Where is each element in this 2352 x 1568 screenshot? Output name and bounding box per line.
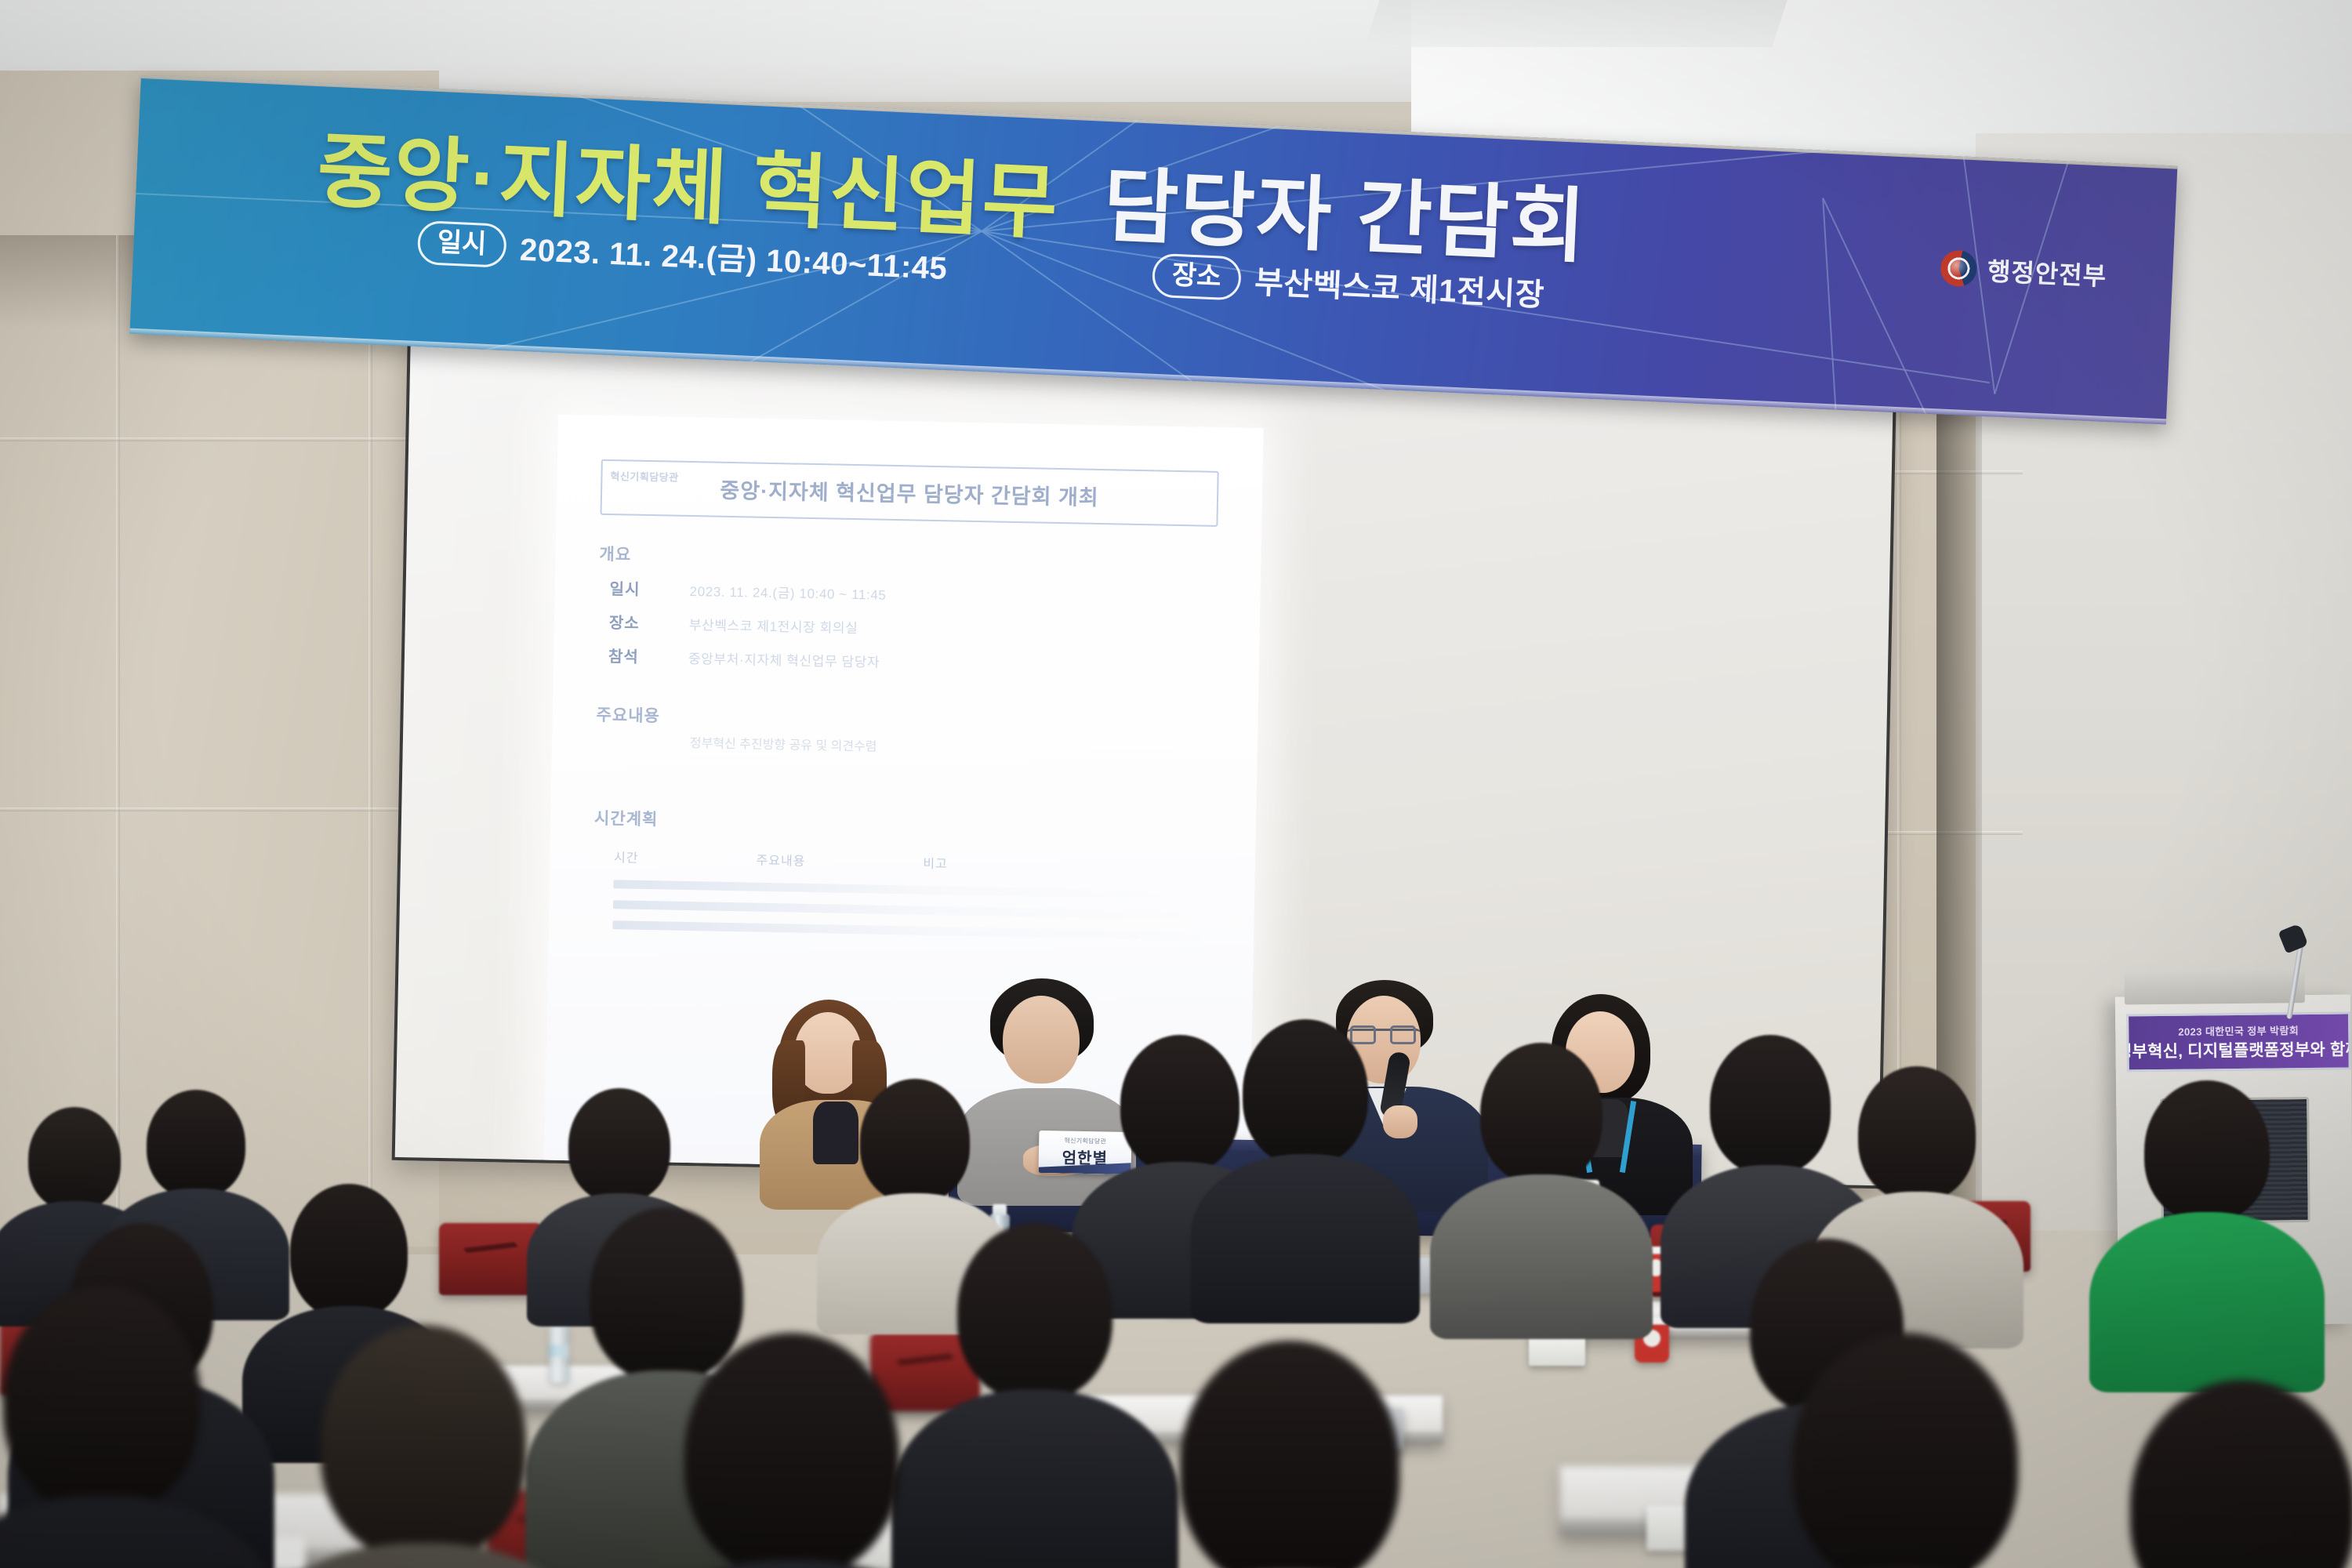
banner-venue-label: 장소 xyxy=(1152,253,1242,301)
head xyxy=(2130,1380,2352,1568)
head xyxy=(3,1286,201,1513)
head xyxy=(1792,1333,2018,1568)
conference-room-photo: 혁신기획담당관 중앙·지자체 혁신업무 담당자 간담회 개최 개요 일시 202… xyxy=(0,0,2352,1568)
head xyxy=(684,1333,899,1568)
audience-person-foreground xyxy=(2070,1380,2352,1568)
head xyxy=(1858,1066,1976,1201)
slide-col-remark: 비고 xyxy=(923,853,948,873)
slide-table-header: 시간 주요내용 비고 xyxy=(614,847,1211,877)
podium-sign-title: 정부혁신, 디지털플랫폼정부와 함께 xyxy=(2126,1036,2351,1062)
audience-person xyxy=(1211,1019,1399,1301)
shoulders xyxy=(596,1560,988,1568)
slide-heading: 혁신기획담당관 중앙·지자체 혁신업무 담당자 간담회 개최 xyxy=(601,459,1219,527)
shoulders xyxy=(0,1496,282,1568)
gooseneck-microphone xyxy=(2280,927,2316,1019)
slide-col-content: 주요내용 xyxy=(756,850,805,869)
wall-panel-seam xyxy=(368,243,372,1247)
head xyxy=(147,1090,245,1198)
head xyxy=(290,1184,408,1319)
audience-person-green-sweater xyxy=(2109,1080,2305,1378)
slide-table-rows xyxy=(612,880,1210,941)
table-row xyxy=(613,900,1210,920)
head xyxy=(1710,1035,1831,1174)
podium-sign: 2023 대한민국 정부 박람회 정부혁신, 디지털플랫폼정부와 함께 xyxy=(2126,1011,2351,1072)
head xyxy=(321,1325,526,1560)
banner-date-label: 일시 xyxy=(417,220,507,268)
slide-col-time: 시간 xyxy=(614,847,639,866)
podium-top-shelf xyxy=(2124,968,2304,1004)
wall-panel-seam xyxy=(0,808,423,811)
shoulders xyxy=(1430,1174,1653,1339)
shoulders xyxy=(235,1543,612,1568)
slide-field-key: 일시 xyxy=(609,576,674,601)
slide-field-key: 장소 xyxy=(609,610,674,634)
audience-person-foreground xyxy=(267,1325,580,1568)
audience-person-foreground xyxy=(627,1333,956,1568)
slide-field-value: 중앙부처·지자체 혁신업무 담당자 xyxy=(688,648,880,671)
table-row xyxy=(613,880,1210,900)
taegeuk-icon xyxy=(1940,249,1977,287)
wall-panel-seam xyxy=(0,437,423,441)
shoulders xyxy=(1191,1154,1420,1323)
audience-person xyxy=(1449,1043,1633,1317)
slide-section-schedule: 시간계획 xyxy=(594,806,1212,841)
podium-sign-subtitle: 2023 대한민국 정부 박람회 xyxy=(2178,1022,2299,1039)
slide-field-value: 부산벡스코 제1전시장 회의실 xyxy=(689,614,858,637)
slide-field-row: 참석 중앙부처·지자체 혁신업무 담당자 xyxy=(608,644,1215,678)
head xyxy=(957,1223,1112,1400)
audience-person-foreground xyxy=(0,1286,251,1568)
head xyxy=(1243,1019,1368,1165)
ministry-name: 행정안전부 xyxy=(1987,252,2107,293)
ministry-logo: 행정안전부 xyxy=(1940,249,2107,292)
head xyxy=(860,1079,970,1203)
mic-capsule xyxy=(2278,923,2308,953)
slide-section-overview: 개요 xyxy=(599,542,1217,577)
head xyxy=(568,1088,670,1203)
head xyxy=(1180,1341,1399,1568)
slide-heading-text: 중앙·지자체 혁신업무 담당자 간담회 개최 xyxy=(720,479,1099,510)
slide-tag: 혁신기획담당관 xyxy=(610,468,679,485)
slide-field-row: 일시 2023. 11. 24.(금) 10:40 ~ 11:45 xyxy=(609,576,1216,611)
slide-section-main: 주요내용 xyxy=(596,702,1214,738)
table-row xyxy=(612,920,1210,941)
head xyxy=(1480,1043,1602,1184)
audience-person-foreground xyxy=(1121,1341,1458,1568)
slide-field-key: 참석 xyxy=(608,644,673,668)
head xyxy=(28,1107,121,1210)
slide-main-note: 정부혁신 추진방향 공유 및 의견수렴 xyxy=(690,732,1214,761)
ceiling-seam xyxy=(1364,0,1787,47)
audience-person-foreground xyxy=(1733,1333,2078,1568)
shoulders xyxy=(2089,1212,2325,1392)
face xyxy=(1003,996,1080,1083)
slide-field-value: 2023. 11. 24.(금) 10:40 ~ 11:45 xyxy=(689,580,886,604)
head xyxy=(2144,1080,2270,1221)
slide-field-row: 장소 부산벡스코 제1전시장 회의실 xyxy=(609,610,1216,644)
